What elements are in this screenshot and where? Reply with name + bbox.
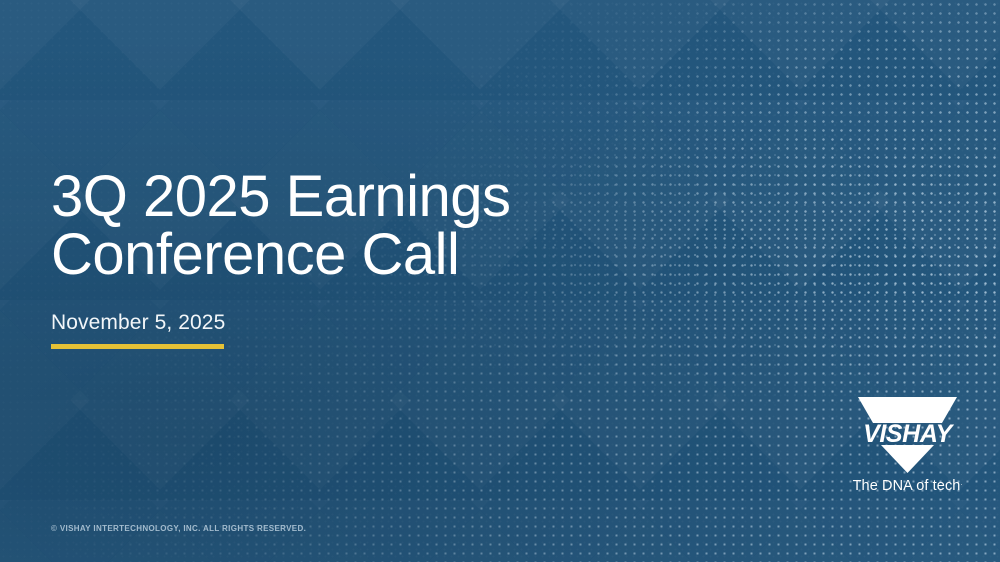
- presentation-date: November 5, 2025: [51, 311, 225, 335]
- presentation-slide: 3Q 2025 Earnings Conference Call Novembe…: [0, 0, 1000, 562]
- gold-accent-bar: [51, 344, 224, 349]
- page-title: 3Q 2025 Earnings Conference Call: [51, 168, 691, 284]
- vishay-logo: VISHAY The DNA of tech.: [845, 393, 970, 503]
- vishay-wordmark: VISHAY: [863, 420, 955, 448]
- copyright-notice: © VISHAY INTERTECHNOLOGY, INC. ALL RIGHT…: [51, 524, 306, 533]
- logo-tagline-text: The DNA of tech: [853, 478, 961, 494]
- vishay-inverted-triangle-icon: VISHAY: [845, 393, 970, 475]
- logo-tagline-mark: .: [960, 480, 962, 487]
- logo-tagline: The DNA of tech.: [845, 478, 970, 494]
